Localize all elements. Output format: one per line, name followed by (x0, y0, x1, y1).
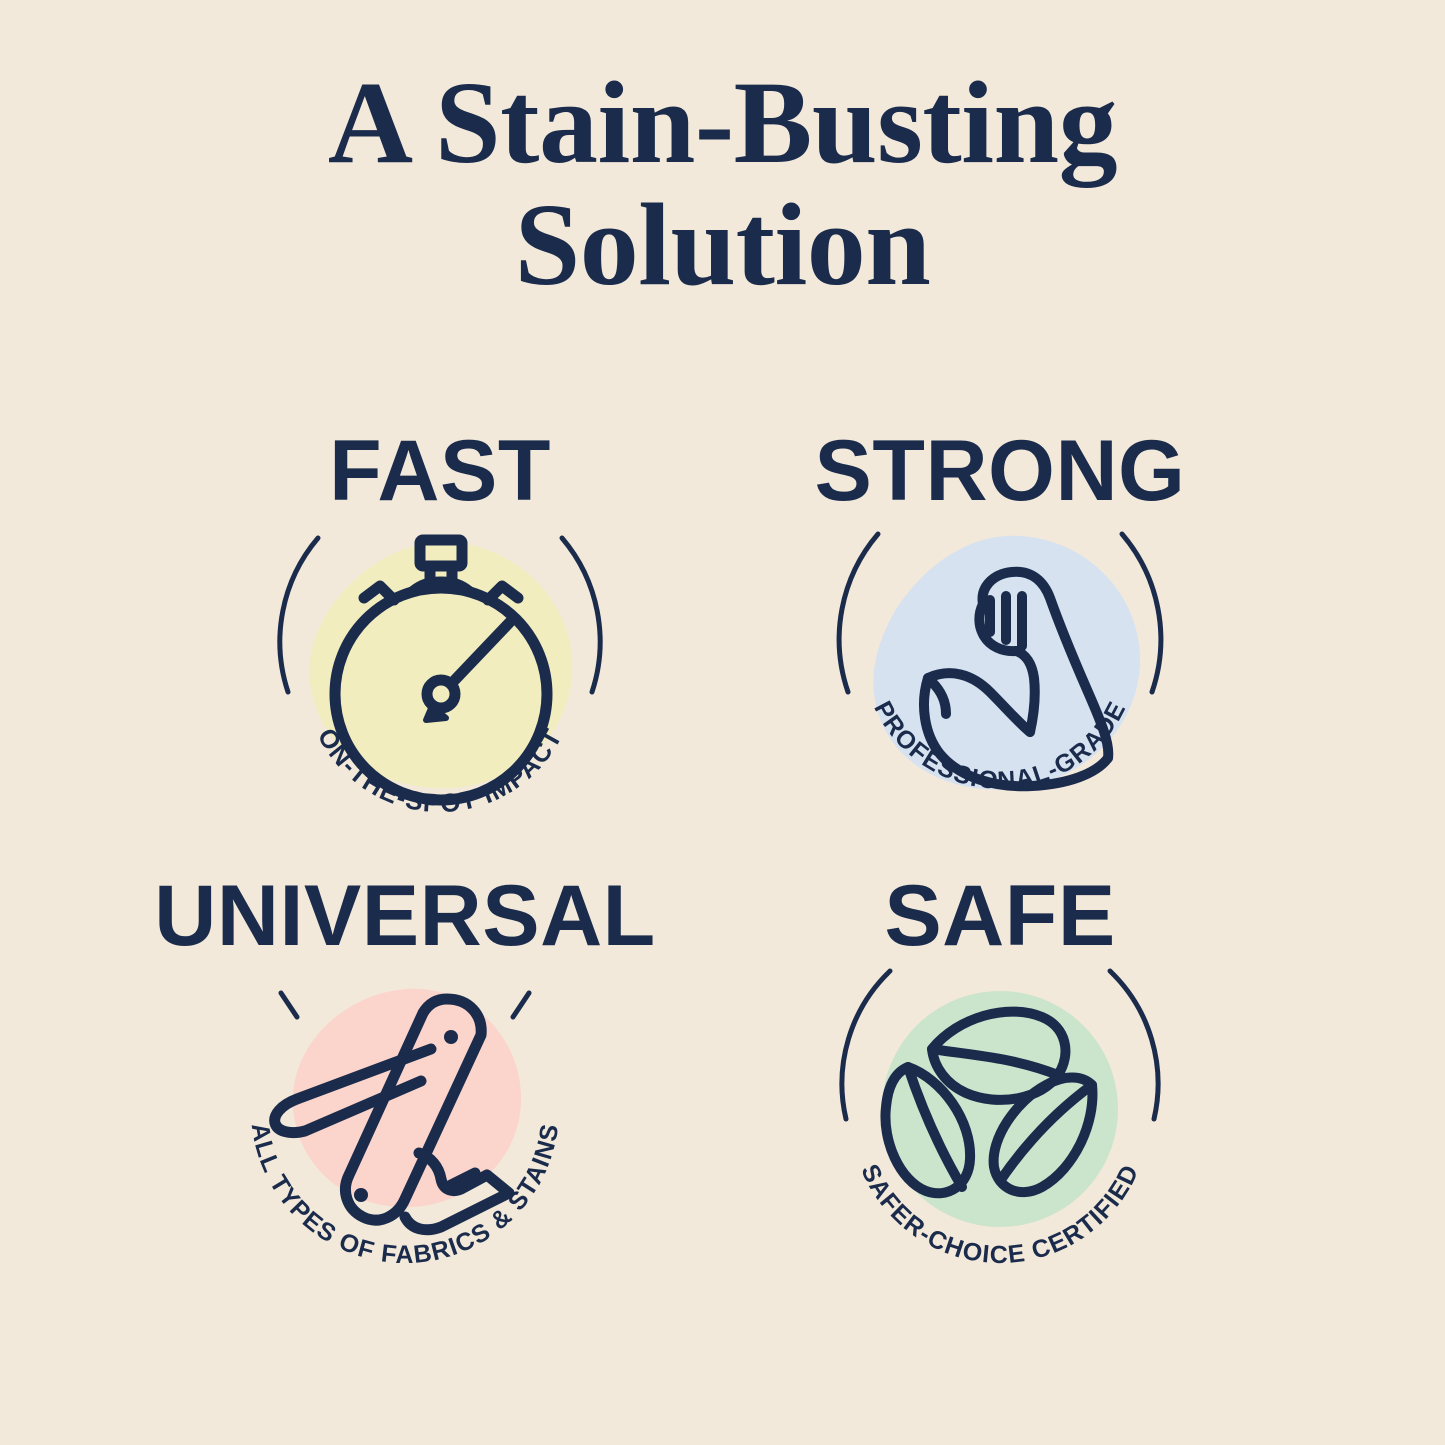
badge-universal-dash-right (513, 993, 529, 1017)
badge-universal-dash-left (281, 993, 297, 1017)
infographic-canvas: A Stain-Busting Solution FAST (0, 0, 1445, 1445)
badge-safe-art: SAFER-CHOICE CERTIFIED (820, 941, 1180, 1306)
badge-fast-art: ON-THE-SPOT IMPACT (260, 496, 620, 861)
badge-universal: UNIVERSAL (125, 855, 685, 1325)
badge-strong-arc-left (839, 534, 878, 692)
page-title-line-1: A Stain-Busting (0, 62, 1445, 184)
badge-fast: FAST (160, 400, 720, 870)
badge-strong-art: PROFESSIONAL-GRADE (820, 496, 1180, 861)
badge-universal-art: ALL TYPES OF FABRICS & STAINS (225, 941, 585, 1306)
page-title: A Stain-Busting Solution (0, 62, 1445, 305)
page-title-line-2: Solution (0, 184, 1445, 306)
benefit-badge-grid: FAST (0, 400, 1445, 1400)
badge-safe: SAFE (720, 855, 1280, 1325)
badge-strong: STRONG (720, 400, 1280, 870)
